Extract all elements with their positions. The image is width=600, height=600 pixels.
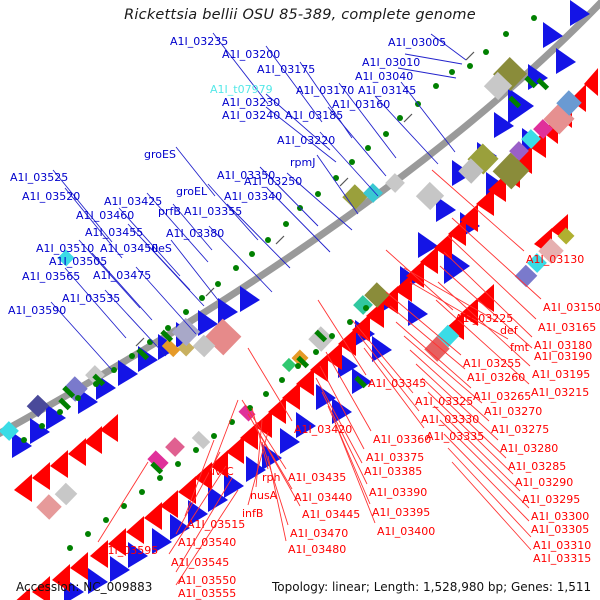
gene-label-forward[interactable]: A1I_03200 <box>222 49 280 60</box>
gene-label-forward[interactable]: A1I_03475 <box>93 270 151 281</box>
gene-label-forward[interactable]: A1I_03380 <box>166 228 224 239</box>
gene-label-reverse[interactable]: A1I_03270 <box>484 406 542 417</box>
gene-label-reverse[interactable]: A1I_03195 <box>532 369 590 380</box>
gene-label-reverse[interactable]: A1I_03445 <box>302 509 360 520</box>
gene-label-forward[interactable]: rpmJ <box>290 157 315 168</box>
gene-label-forward[interactable]: A1I_03355 <box>184 206 242 217</box>
gene-label-reverse[interactable]: A1I_03515 <box>187 519 245 530</box>
gene-label-rna[interactable]: A1I_t07979 <box>210 84 273 95</box>
gene-label-forward[interactable]: A1I_03425 <box>104 196 162 207</box>
gene-label-reverse[interactable]: A1I_03390 <box>369 487 427 498</box>
gene-label-reverse[interactable]: A1I_03335 <box>426 431 484 442</box>
accession-status: Accession: NC_009883 <box>16 580 152 594</box>
gene-label-reverse[interactable]: A1I_03190 <box>534 351 592 362</box>
gene-label-reverse[interactable]: A1I_03595 <box>100 545 158 556</box>
gene-label-forward[interactable]: A1I_03220 <box>277 135 335 146</box>
gene-label-forward[interactable]: A1I_03185 <box>285 110 343 121</box>
page-title: Rickettsia bellii OSU 85-389, complete g… <box>0 7 600 23</box>
gene-label-forward[interactable]: A1I_03240 <box>222 110 280 121</box>
gene-label-forward[interactable]: groEL <box>176 186 207 197</box>
gene-label-forward[interactable]: prfB <box>158 206 181 217</box>
gene-label-forward[interactable]: A1I_03175 <box>257 64 315 75</box>
gene-label-reverse[interactable]: def <box>500 325 518 336</box>
gene-label-reverse[interactable]: A1I_03255 <box>463 358 521 369</box>
gene-label-forward[interactable]: A1I_03450 <box>100 243 158 254</box>
gene-label-reverse[interactable]: A1I_03470 <box>290 528 348 539</box>
gene-label-forward[interactable]: A1I_03040 <box>355 71 413 82</box>
gene-label-reverse[interactable]: A1I_03435 <box>288 472 346 483</box>
gene-label-reverse[interactable]: A1I_03440 <box>294 492 352 503</box>
gene-label-forward[interactable]: groES <box>144 149 176 160</box>
gene-label-forward[interactable]: A1I_03565 <box>22 271 80 282</box>
gene-label-forward[interactable]: A1I_03460 <box>76 210 134 221</box>
gene-label-forward[interactable]: A1I_03230 <box>222 97 280 108</box>
gene-label-reverse[interactable]: A1I_03315 <box>533 553 591 564</box>
gene-label-reverse[interactable]: A1I_03310 <box>533 540 591 551</box>
gene-label-reverse[interactable]: A1I_03150 <box>543 302 600 313</box>
gene-label-reverse[interactable]: A1I_03400 <box>377 526 435 537</box>
gene-label-forward[interactable]: A1I_03160 <box>332 99 390 110</box>
gene-label-reverse[interactable]: nusA <box>250 490 277 501</box>
gene-label-forward[interactable]: A1I_03590 <box>8 305 66 316</box>
gene-label-reverse[interactable]: A1I_03545 <box>171 557 229 568</box>
gene-label-reverse[interactable]: uvrC <box>208 466 234 477</box>
gene-label-reverse[interactable]: A1I_03360 <box>373 434 431 445</box>
gene-label-reverse[interactable]: A1I_03555 <box>178 588 236 599</box>
genome-metadata-status: Topology: linear; Length: 1,528,980 bp; … <box>272 580 591 594</box>
gene-label-reverse[interactable]: A1I_03395 <box>372 507 430 518</box>
gene-label-reverse[interactable]: A1I_03540 <box>178 537 236 548</box>
gene-label-reverse[interactable]: A1I_03280 <box>500 443 558 454</box>
gene-label-reverse[interactable]: A1I_03290 <box>515 477 573 488</box>
gene-label-forward[interactable]: A1I_03505 <box>49 256 107 267</box>
gene-label-reverse[interactable]: A1I_03300 <box>531 511 589 522</box>
gene-label-forward[interactable]: A1I_03510 <box>36 243 94 254</box>
gene-label-forward[interactable]: A1I_03340 <box>224 191 282 202</box>
rna-features[interactable] <box>21 15 549 551</box>
gene-label-forward[interactable]: A1I_03455 <box>85 227 143 238</box>
gene-label-reverse[interactable]: A1I_03165 <box>538 322 596 333</box>
gene-label-reverse[interactable]: A1I_03225 <box>455 313 513 324</box>
gene-label-forward[interactable]: A1I_03235 <box>170 36 228 47</box>
gene-label-reverse[interactable]: A1I_03550 <box>178 575 236 586</box>
gene-label-reverse[interactable]: A1I_03305 <box>531 524 589 535</box>
gene-label-forward[interactable]: A1I_03535 <box>62 293 120 304</box>
gene-label-reverse[interactable]: A1I_03375 <box>366 452 424 463</box>
gene-label-reverse[interactable]: A1I_03275 <box>491 424 549 435</box>
gene-label-reverse[interactable]: A1I_03385 <box>364 466 422 477</box>
gene-label-forward[interactable]: A1I_03525 <box>10 172 68 183</box>
gene-label-reverse[interactable]: A1I_03480 <box>288 544 346 555</box>
gene-label-forward[interactable]: A1I_03520 <box>22 191 80 202</box>
gene-label-reverse[interactable]: A1I_03130 <box>526 254 584 265</box>
gene-label-forward[interactable]: ileS <box>152 243 172 254</box>
gene-label-reverse[interactable]: A1I_03295 <box>522 494 580 505</box>
gene-label-forward[interactable]: A1I_03010 <box>362 57 420 68</box>
gene-label-forward[interactable]: A1I_03005 <box>388 37 446 48</box>
gene-label-reverse[interactable]: fmt <box>510 342 529 353</box>
gene-label-reverse[interactable]: A1I_03260 <box>467 372 525 383</box>
gene-label-reverse[interactable]: A1I_03265 <box>473 391 531 402</box>
gene-label-reverse[interactable]: A1I_03325 <box>415 396 473 407</box>
gene-label-reverse[interactable]: A1I_03330 <box>421 414 479 425</box>
genome-map-viewer: Rickettsia bellii OSU 85-389, complete g… <box>0 0 600 600</box>
gene-label-reverse[interactable]: rph <box>262 472 280 483</box>
gene-label-reverse[interactable]: A1I_03285 <box>508 461 566 472</box>
gene-label-forward[interactable]: A1I_03250 <box>244 176 302 187</box>
gene-label-forward[interactable]: A1I_03170 <box>296 85 354 96</box>
gene-label-forward[interactable]: A1I_03145 <box>358 85 416 96</box>
gene-label-reverse[interactable]: A1I_03215 <box>531 387 589 398</box>
gene-label-reverse[interactable]: infB <box>242 508 263 519</box>
gene-label-reverse[interactable]: A1I_03345 <box>368 378 426 389</box>
gene-label-reverse[interactable]: A1I_03420 <box>294 424 352 435</box>
